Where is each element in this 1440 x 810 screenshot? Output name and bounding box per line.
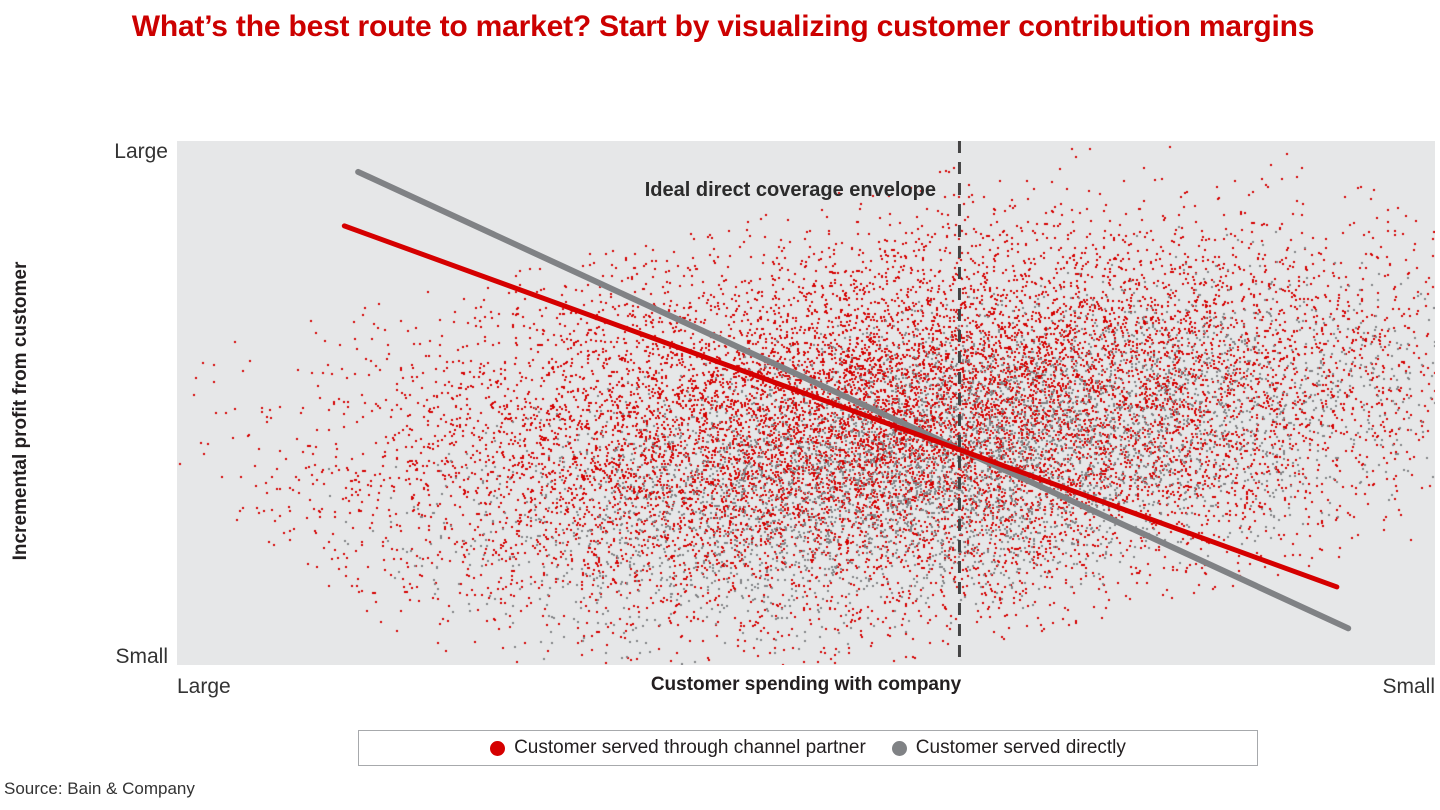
annotation-ideal-direct-coverage-envelope: Ideal direct coverage envelope bbox=[560, 176, 936, 205]
legend-dot-gray-icon bbox=[892, 741, 907, 756]
y-axis-title: Incremental profit from customer bbox=[10, 146, 32, 676]
trend-line-channel-partner bbox=[344, 226, 1337, 587]
legend-item-channel-partner[interactable]: Customer served through channel partner bbox=[490, 737, 866, 759]
page-title: What’s the best route to market? Start b… bbox=[120, 8, 1326, 46]
chart-legend: Customer served through channel partner … bbox=[358, 730, 1258, 766]
legend-item-direct[interactable]: Customer served directly bbox=[892, 737, 1126, 759]
x-axis-title: Customer spending with company bbox=[177, 674, 1435, 696]
plot-area bbox=[177, 141, 1435, 665]
x-axis-tick-small: Small bbox=[1382, 675, 1435, 699]
y-axis-tick-small: Small bbox=[115, 645, 168, 669]
source-note: Source: Bain & Company bbox=[4, 779, 195, 799]
legend-label-direct: Customer served directly bbox=[916, 737, 1126, 759]
trend-line-direct bbox=[358, 172, 1348, 628]
trend-lines-layer bbox=[177, 141, 1435, 665]
y-axis-tick-large: Large bbox=[114, 140, 168, 164]
legend-label-channel-partner: Customer served through channel partner bbox=[514, 737, 866, 759]
legend-dot-red-icon bbox=[490, 741, 505, 756]
